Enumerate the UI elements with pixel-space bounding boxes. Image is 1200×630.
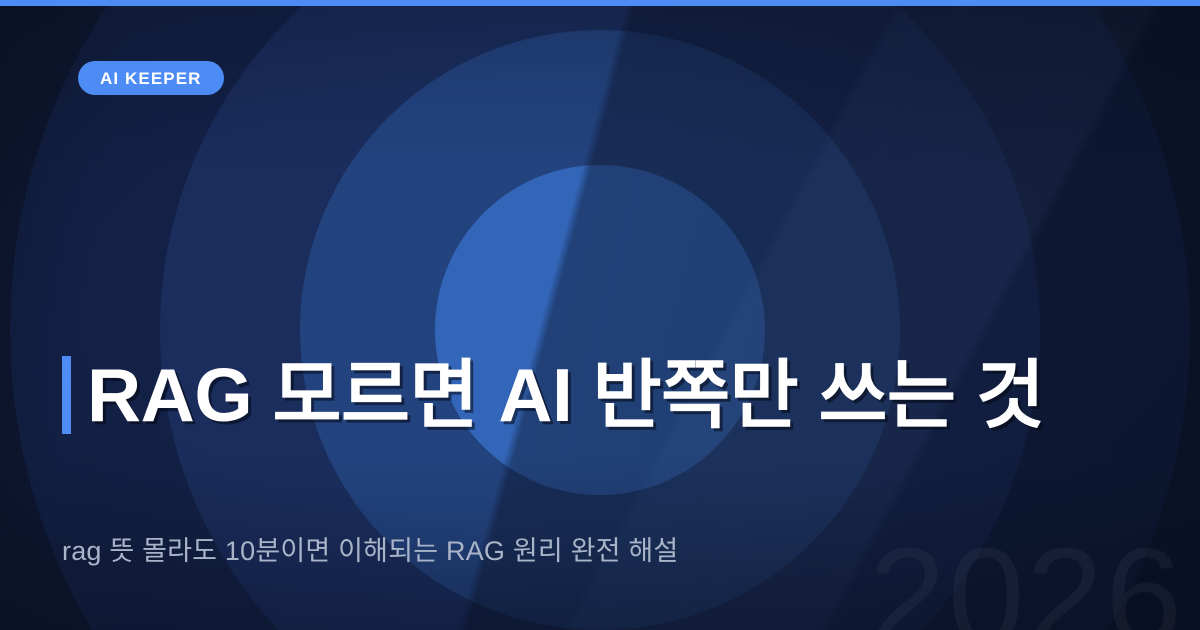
headline-group: RAG 모르면 AI 반쪽만 쓰는 것 — [62, 306, 1044, 485]
year-watermark: 2026 — [869, 528, 1184, 630]
brand-badge-label: AI KEEPER — [100, 70, 202, 87]
accent-top-bar — [0, 0, 1200, 6]
headline-accent-bar — [62, 356, 71, 434]
page-title: RAG 모르면 AI 반쪽만 쓰는 것 — [87, 356, 1044, 434]
page-subtitle: rag 뜻 몰라도 10분이면 이해되는 RAG 원리 완전 해설 — [62, 535, 678, 567]
brand-badge: AI KEEPER — [78, 61, 224, 95]
thumbnail-card: 2026 AI KEEPER RAG 모르면 AI 반쪽만 쓰는 것 rag 뜻… — [0, 0, 1200, 630]
